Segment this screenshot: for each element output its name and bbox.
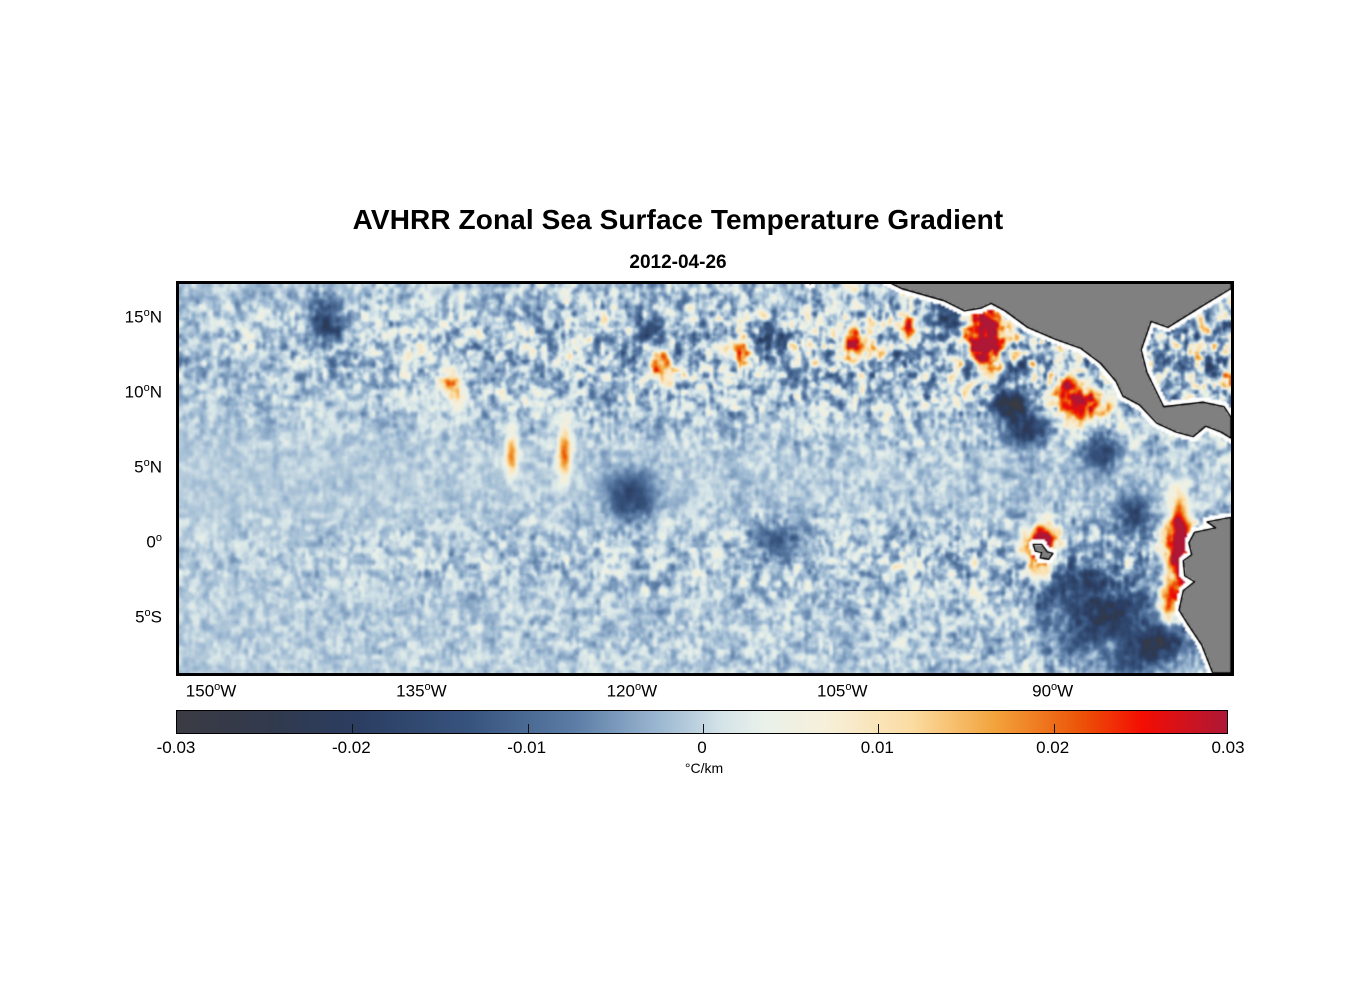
colorbar-tick xyxy=(703,724,704,733)
y-axis-tick-label: 5oN xyxy=(30,458,162,476)
colorbar-tick-label: -0.02 xyxy=(281,738,421,758)
y-axis-tick-label: 0o xyxy=(30,533,162,551)
x-axis-tick-label: 150oW xyxy=(151,682,271,700)
colorbar-tick-label: 0.03 xyxy=(1158,738,1298,758)
y-axis-tick-label: 15oN xyxy=(30,308,162,326)
y-axis-tick-label: 5oS xyxy=(30,608,162,626)
colorbar-tick xyxy=(352,724,353,733)
x-axis-tick-label: 120oW xyxy=(572,682,692,700)
x-axis-tick-label: 135oW xyxy=(361,682,481,700)
figure-title: AVHRR Zonal Sea Surface Temperature Grad… xyxy=(0,204,1356,236)
colorbar-tick-label: 0.02 xyxy=(983,738,1123,758)
figure-subtitle: 2012-04-26 xyxy=(0,252,1356,274)
map-plot-area xyxy=(179,284,1231,673)
colorbar-tick xyxy=(1054,724,1055,733)
y-axis-tick-label: 10oN xyxy=(30,383,162,401)
colorbar-tick-label: 0.01 xyxy=(807,738,947,758)
colorbar-tick xyxy=(878,724,879,733)
x-axis-tick-label: 105oW xyxy=(782,682,902,700)
colorbar-tick-label: -0.03 xyxy=(106,738,246,758)
x-axis-tick-label: 90oW xyxy=(993,682,1113,700)
sst-gradient-heatmap xyxy=(179,284,1231,673)
map-axes xyxy=(176,281,1234,676)
colorbar-unit-text: °C/km xyxy=(685,760,723,776)
colorbar xyxy=(176,710,1228,734)
colorbar-tick-label: -0.01 xyxy=(457,738,597,758)
colorbar-gradient xyxy=(177,711,1227,733)
colorbar-unit-label: °C/km xyxy=(0,760,1356,776)
colorbar-tick-label: 0 xyxy=(632,738,772,758)
figure-canvas: AVHRR Zonal Sea Surface Temperature Grad… xyxy=(0,0,1356,1000)
colorbar-tick xyxy=(528,724,529,733)
